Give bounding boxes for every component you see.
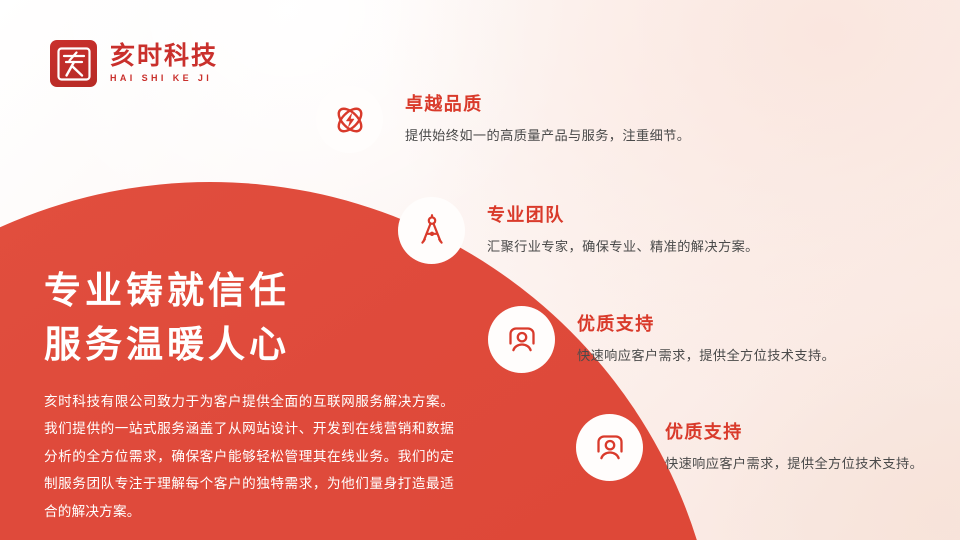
feature-badge-2 bbox=[398, 197, 465, 264]
feature-text-4: 优质支持 快速响应客户需求，提供全方位技术支持。 bbox=[665, 422, 923, 473]
brand-name-cn: 亥时科技 bbox=[110, 44, 218, 69]
company-seal-glyph-icon bbox=[50, 40, 97, 87]
feature-badge-4 bbox=[576, 414, 643, 481]
feature-badge-3 bbox=[488, 306, 555, 373]
feature-desc-3: 快速响应客户需求，提供全方位技术支持。 bbox=[577, 347, 835, 365]
feature-title-3: 优质支持 bbox=[577, 314, 835, 336]
brand-wordmark: 亥时科技 HAI SHI KE JI bbox=[110, 44, 218, 83]
headline-line-2: 服务温暖人心 bbox=[44, 318, 464, 372]
brand-logo[interactable]: 亥时科技 HAI SHI KE JI bbox=[50, 40, 218, 87]
feature-title-1: 卓越品质 bbox=[405, 94, 690, 116]
feature-item-4[interactable]: 优质支持 快速响应客户需求，提供全方位技术支持。 bbox=[576, 414, 923, 481]
user-card-icon bbox=[591, 429, 629, 467]
atom-bolt-icon bbox=[331, 101, 369, 139]
feature-text-1: 卓越品质 提供始终如一的高质量产品与服务，注重细节。 bbox=[405, 94, 690, 145]
compass-divider-icon bbox=[413, 212, 451, 250]
hero-paragraph: 亥时科技有限公司致力于为客户提供全面的互联网服务解决方案。我们提供的一站式服务涵… bbox=[44, 388, 454, 525]
headline-line-1: 专业铸就信任 bbox=[44, 264, 464, 318]
feature-item-2[interactable]: 专业团队 汇聚行业专家，确保专业、精准的解决方案。 bbox=[398, 197, 759, 264]
slide-canvas: 亥时科技 HAI SHI KE JI 专业铸就信任 服务温暖人心 亥时科技有限公… bbox=[0, 0, 960, 540]
feature-title-2: 专业团队 bbox=[487, 205, 759, 227]
feature-title-4: 优质支持 bbox=[665, 422, 923, 444]
feature-item-1[interactable]: 卓越品质 提供始终如一的高质量产品与服务，注重细节。 bbox=[316, 86, 690, 153]
feature-desc-4: 快速响应客户需求，提供全方位技术支持。 bbox=[665, 455, 923, 473]
feature-desc-1: 提供始终如一的高质量产品与服务，注重细节。 bbox=[405, 127, 690, 145]
feature-text-2: 专业团队 汇聚行业专家，确保专业、精准的解决方案。 bbox=[487, 205, 759, 256]
brand-name-en: HAI SHI KE JI bbox=[110, 74, 218, 83]
feature-text-3: 优质支持 快速响应客户需求，提供全方位技术支持。 bbox=[577, 314, 835, 365]
feature-item-3[interactable]: 优质支持 快速响应客户需求，提供全方位技术支持。 bbox=[488, 306, 835, 373]
user-card-icon bbox=[503, 321, 541, 359]
feature-desc-2: 汇聚行业专家，确保专业、精准的解决方案。 bbox=[487, 238, 759, 256]
hero-headline: 专业铸就信任 服务温暖人心 bbox=[44, 264, 464, 371]
feature-badge-1 bbox=[316, 86, 383, 153]
